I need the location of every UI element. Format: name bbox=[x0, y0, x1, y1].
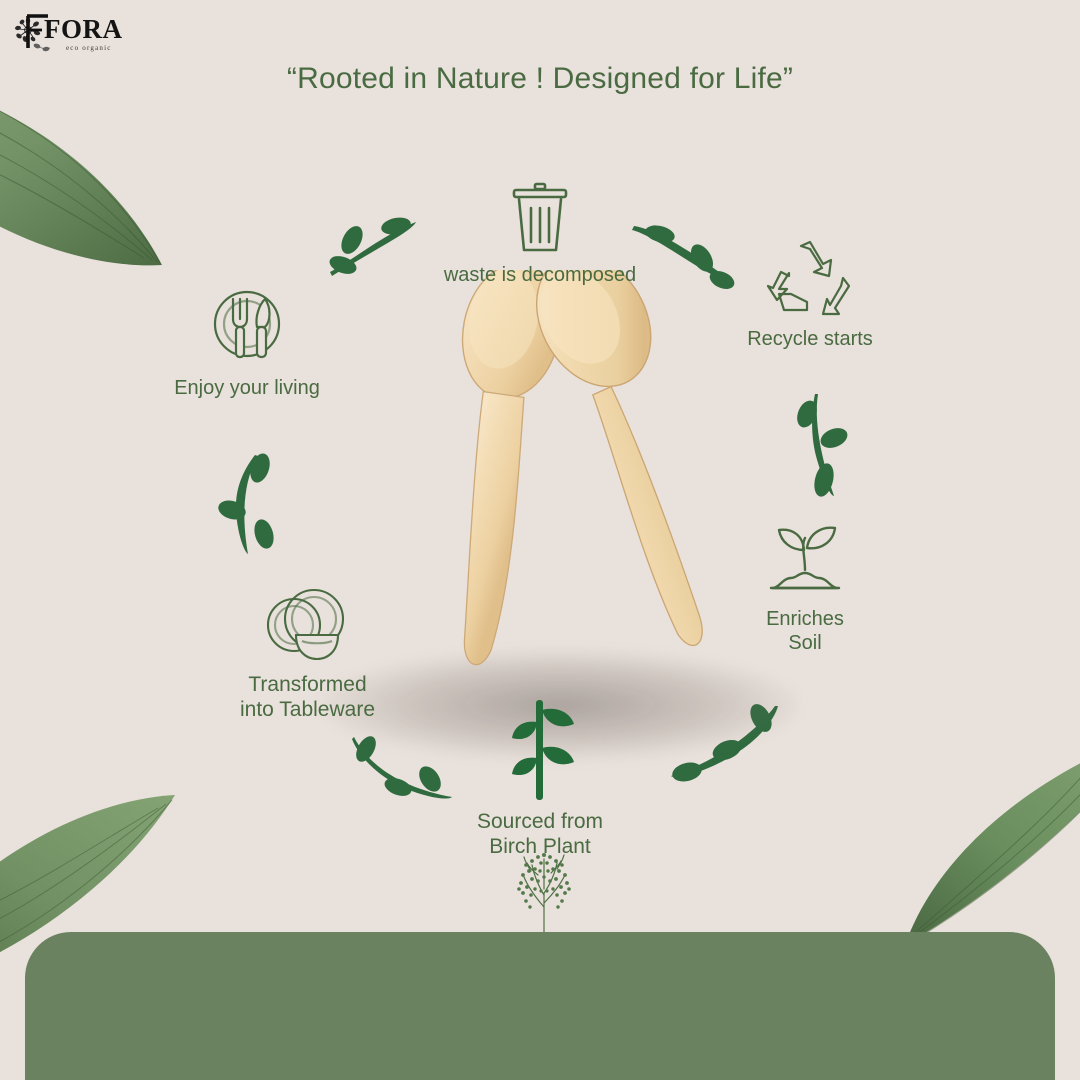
logo-wordmark: FORA bbox=[44, 16, 123, 43]
icon-wrap bbox=[152, 287, 342, 367]
cycle-node-label: Enjoy your living bbox=[152, 377, 342, 401]
icon-wrap bbox=[715, 240, 905, 318]
icon-wrap bbox=[415, 182, 665, 254]
sprig-left-icon bbox=[218, 452, 288, 562]
cycle-node-sourced[interactable]: Sourced from Birch Plant bbox=[425, 700, 655, 860]
sprout-icon bbox=[500, 700, 580, 800]
cycle-node-label: Enriches Soil bbox=[715, 608, 895, 655]
seedling-in-soil-icon bbox=[765, 520, 845, 598]
cycle-node-label: waste is decomposed bbox=[415, 264, 665, 288]
cycle-node-tableware[interactable]: Transformed into Tableware bbox=[200, 585, 415, 723]
infographic-poster: FORA eco organic “Rooted in Nature ! Des… bbox=[0, 0, 1080, 1080]
bottom-banner bbox=[25, 932, 1055, 1080]
cycle-node-soil[interactable]: Enriches Soil bbox=[715, 520, 895, 655]
sprig-top-left-icon bbox=[322, 200, 422, 280]
brand-logo[interactable]: FORA eco organic bbox=[14, 14, 134, 66]
icon-wrap bbox=[715, 520, 895, 598]
page-title: “Rooted in Nature ! Designed for Life” bbox=[0, 62, 1080, 96]
cycle-node-label: Transformed into Tableware bbox=[200, 673, 415, 723]
icon-wrap bbox=[425, 700, 655, 800]
plates-and-bowl-icon bbox=[266, 585, 350, 663]
cycle-node-recycle[interactable]: Recycle starts bbox=[715, 240, 905, 352]
cycle-node-waste[interactable]: waste is decomposed bbox=[415, 182, 665, 288]
icon-wrap bbox=[200, 585, 415, 663]
sprig-right-icon bbox=[790, 392, 860, 502]
cycle-node-label: Recycle starts bbox=[715, 328, 905, 352]
crossed-spoons-illustration bbox=[370, 270, 770, 720]
cycle-node-enjoy[interactable]: Enjoy your living bbox=[152, 287, 342, 401]
plate-fork-knife-icon bbox=[207, 287, 287, 367]
leaf-top-left-icon bbox=[0, 70, 192, 300]
logo-tagline: eco organic bbox=[66, 44, 112, 52]
recycle-icon bbox=[767, 240, 853, 318]
trash-bin-icon bbox=[508, 182, 572, 254]
